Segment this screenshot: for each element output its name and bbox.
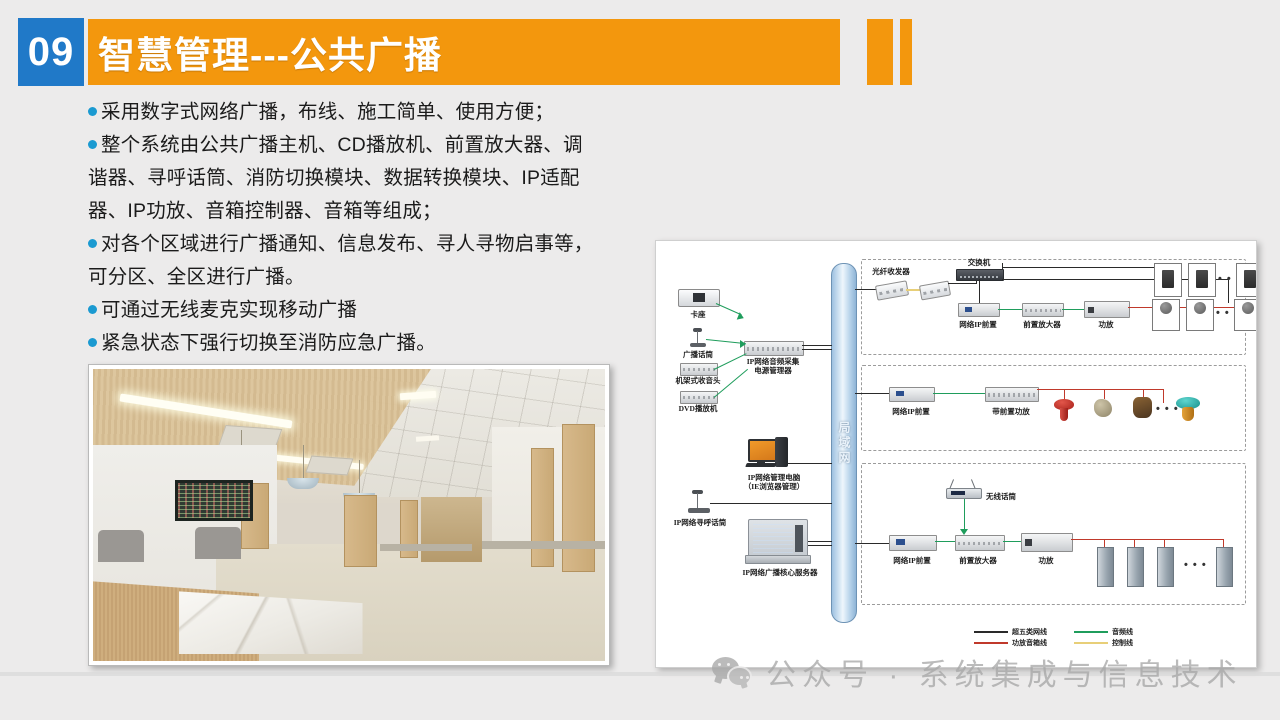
legend-item-audio: 音频线 — [1074, 627, 1133, 637]
tape-deck-label: 卡座 — [691, 309, 706, 320]
air-vent — [306, 455, 354, 475]
network-link — [802, 349, 832, 350]
watermark-text: 公众号 · 系统集成与信息技术 — [766, 650, 1243, 694]
ip-front-end-device — [889, 535, 937, 551]
bullet-text: 采用数字式网络广播，布线、施工简单、使用方便； — [101, 101, 554, 123]
bullet-item: 整个系统由公共广播主机、CD播放机、前置放大器、调 — [88, 129, 598, 162]
bullet-text: 整个系统由公共广播主机、CD播放机、前置放大器、调 — [101, 134, 583, 156]
amp-with-preamp-label: 带前置功放 — [992, 406, 1030, 417]
paging-microphone-device — [688, 489, 710, 513]
legend-label: 音频线 — [1112, 627, 1133, 637]
door — [531, 448, 553, 567]
legend-item-speaker: 功放音箱线 — [974, 638, 1047, 648]
bullet-text: 谐器、寻呼话筒、消防切换模块、数据转换模块、IP适配 — [88, 167, 580, 189]
wireless-microphone-device — [946, 479, 982, 499]
network-link — [788, 463, 832, 464]
bullet-item: 采用数字式网络广播，布线、施工简单、使用方便； — [88, 96, 598, 129]
bullet-item: 可通过无线麦克实现移动广播 — [88, 294, 598, 327]
ip-front-end-label: 网络IP前置 — [893, 555, 931, 566]
wall-rail — [380, 544, 472, 551]
lan-label: 局域网 — [837, 421, 851, 466]
network-switch-label: 交换机 — [968, 257, 991, 268]
column-speaker — [1157, 547, 1174, 587]
legend-item-control: 控制线 — [1074, 638, 1133, 648]
door — [562, 424, 595, 572]
bullet-dot-icon — [88, 338, 97, 347]
audio-link — [935, 541, 955, 542]
network-link — [808, 541, 832, 542]
wechat-icon — [712, 657, 752, 687]
corridor-photo — [93, 369, 605, 661]
legend-swatch-control — [1074, 642, 1108, 644]
bullet-item: 对各个区域进行广播通知、信息发布、寻人寻物启事等， — [88, 228, 598, 261]
page-title: 智慧管理---公共广播 — [98, 22, 442, 82]
watermark: 公众号 · 系统集成与信息技术 — [712, 650, 1243, 694]
ip-front-end-label: 网络IP前置 — [892, 406, 930, 417]
ellipsis-icon: • • • — [1184, 559, 1207, 571]
wireless-microphone-label: 无线话筒 — [986, 491, 1016, 502]
bullet-dot-icon — [88, 107, 97, 116]
rock-garden-speaker — [1094, 399, 1112, 417]
arrow-icon — [740, 340, 746, 348]
network-link — [710, 503, 832, 504]
management-pc-label: IP网络管理电脑 （IE浏览器管理） — [744, 473, 804, 491]
bullet-continuation: 器、IP功放、音箱控制器、音箱等组成； — [88, 195, 598, 228]
wall-speaker-box — [1154, 263, 1182, 297]
pre-amplifier-label: 前置放大器 — [1023, 319, 1061, 330]
bullet-continuation: 谐器、寻呼话筒、消防切换模块、数据转换模块、IP适配 — [88, 162, 598, 195]
pre-amplifier-device — [1022, 303, 1064, 317]
tape-deck-device — [678, 289, 720, 307]
dvd-player-label: DVD播放机 — [679, 403, 718, 414]
network-link — [808, 545, 832, 546]
header-decoration-bar-2 — [900, 19, 912, 85]
bullet-list: 采用数字式网络广播，布线、施工简单、使用方便； 整个系统由公共广播主机、CD播放… — [88, 96, 598, 360]
bullet-dot-icon — [88, 140, 97, 149]
legend-swatch-speaker — [974, 642, 1008, 644]
legend-item-cat5e: 超五类网线 — [974, 627, 1047, 637]
speaker-link — [1104, 389, 1105, 399]
mushroom-garden-speaker — [1176, 397, 1200, 421]
rock-garden-speaker — [1133, 397, 1152, 418]
amp-with-preamp-device — [985, 387, 1039, 402]
fiber-transceiver-label: 光纤收发器 — [872, 266, 910, 277]
ceiling-speaker-box — [1152, 299, 1180, 331]
audio-link — [933, 393, 985, 394]
bullet-dot-icon — [88, 239, 97, 248]
ip-front-end-device — [958, 303, 1000, 317]
arrow-icon — [737, 312, 746, 322]
management-pc-device — [748, 439, 790, 469]
network-link — [855, 393, 889, 394]
power-amplifier-device — [1084, 301, 1130, 318]
bullet-text: 可通过无线麦克实现移动广播 — [101, 299, 357, 321]
column-speaker — [1127, 547, 1144, 587]
mushroom-garden-speaker — [1054, 399, 1074, 421]
power-amplifier-label: 功放 — [1099, 319, 1114, 330]
power-amplifier-device — [1021, 533, 1073, 552]
legend-label: 控制线 — [1112, 638, 1133, 648]
speaker-link — [1037, 389, 1163, 390]
network-link — [802, 345, 832, 346]
nurse-station-desk — [93, 550, 380, 661]
audio-collector-device — [744, 341, 804, 356]
ip-front-end-device — [889, 387, 935, 402]
column-speaker — [1216, 547, 1233, 587]
audio-link — [1003, 541, 1021, 542]
audio-link — [1062, 309, 1084, 310]
core-server-label: IP网络广播核心服务器 — [743, 567, 818, 578]
pre-amplifier-label: 前置放大器 — [959, 555, 997, 566]
network-link — [855, 543, 889, 544]
core-server-device — [748, 519, 812, 564]
column-speaker — [1097, 547, 1114, 587]
bullet-text: 紧急状态下强行切换至消防应急广播。 — [101, 332, 436, 354]
rack-tuner-label: 机架式收音头 — [676, 375, 721, 386]
ip-front-end-label: 网络IP前置 — [959, 319, 997, 330]
ceiling-speaker-box — [1234, 299, 1257, 331]
broadcast-microphone-device — [690, 327, 706, 347]
bullet-item: 紧急状态下强行切换至消防应急广播。 — [88, 327, 598, 360]
network-switch-device — [956, 269, 1004, 281]
header-decoration-bar-1 — [867, 19, 893, 85]
power-amplifier-label: 功放 — [1039, 555, 1054, 566]
bullet-text: 可分区、全区进行广播。 — [88, 266, 305, 288]
slide-number-badge: 09 — [18, 18, 84, 86]
lan-backbone: 局域网 — [831, 263, 857, 623]
bullet-text: 器、IP功放、音箱控制器、音箱等组成； — [88, 200, 442, 222]
bullet-text: 对各个区域进行广播通知、信息发布、寻人寻物启事等， — [101, 233, 594, 255]
slide-page: 09 智慧管理---公共广播 采用数字式网络广播，布线、施工简单、使用方便； 整… — [0, 0, 1280, 720]
legend-label: 功放音箱线 — [1012, 638, 1047, 648]
speaker-link — [1071, 539, 1223, 540]
audio-collector-label: IP网络音频采集 电源管理器 — [747, 357, 800, 375]
network-link — [948, 283, 976, 284]
legend-label: 超五类网线 — [1012, 627, 1047, 637]
broadcast-microphone-label: 广播话筒 — [683, 349, 713, 360]
bullet-continuation: 可分区、全区进行广播。 — [88, 261, 598, 294]
paging-microphone-label: IP网络寻呼话筒 — [674, 517, 727, 528]
network-link — [1002, 267, 1176, 268]
pre-amplifier-device — [955, 535, 1005, 551]
corridor-end-door — [421, 497, 482, 561]
speaker-link — [1163, 389, 1164, 403]
legend-swatch-audio — [1074, 631, 1108, 633]
legend-swatch-cat5e — [974, 631, 1008, 633]
information-board — [175, 480, 253, 521]
wall-speaker-box — [1188, 263, 1216, 297]
bullet-dot-icon — [88, 305, 97, 314]
ceiling-speaker-box — [1186, 299, 1214, 331]
wall-rail — [482, 541, 605, 548]
corridor-photo-frame — [88, 364, 610, 666]
audio-link — [964, 499, 965, 531]
network-link — [855, 289, 877, 290]
audio-link — [998, 309, 1022, 310]
network-link — [1002, 263, 1003, 269]
broadcast-system-diagram: 局域网 卡座 广播话筒 机架式收音头 DVD播放机 IP网络音频采集 电源管理器 — [655, 240, 1257, 668]
wall-speaker-box — [1236, 263, 1257, 297]
audio-link — [714, 353, 747, 370]
